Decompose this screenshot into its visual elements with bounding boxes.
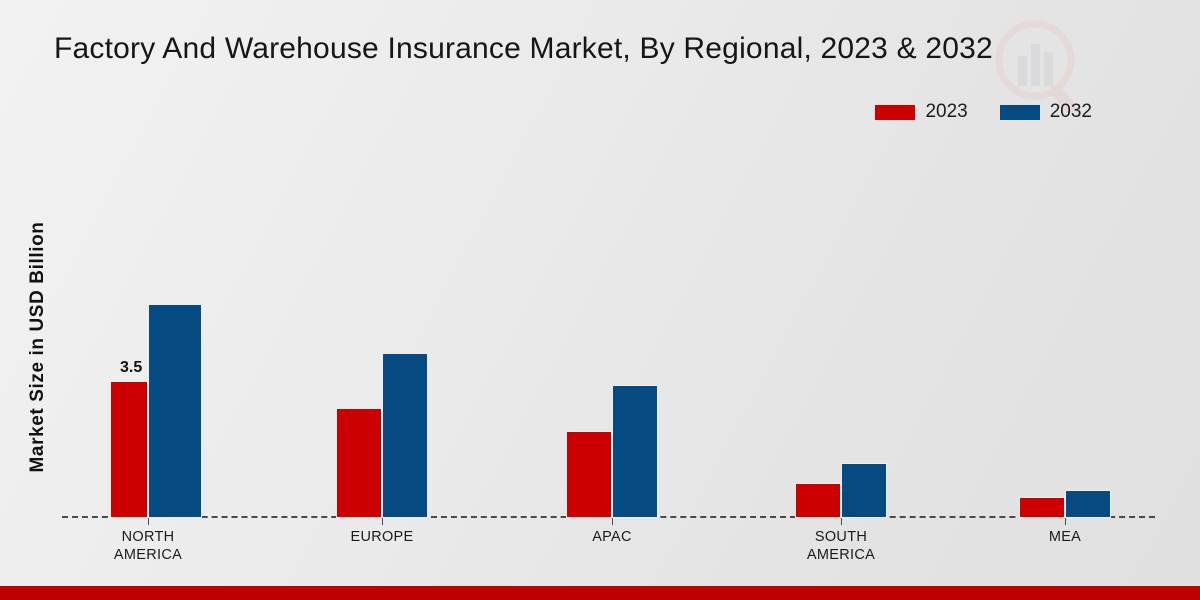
- legend-label-2032: 2032: [1050, 101, 1092, 123]
- x-axis-label-apac: APAC: [512, 528, 712, 546]
- legend-label-2023: 2023: [925, 101, 967, 123]
- bar-group-north-america: 3.5 NORTH AMERICA: [110, 150, 250, 518]
- x-axis-label-south-america-line1: SOUTH: [741, 528, 941, 546]
- x-axis-label-apac-line1: APAC: [512, 528, 712, 546]
- x-axis-tick-south-america: [841, 518, 842, 525]
- bar-europe-2032[interactable]: [382, 353, 428, 518]
- bar-north-america-2032[interactable]: [148, 304, 202, 518]
- bar-north-america-2023[interactable]: [110, 381, 148, 518]
- x-axis-label-south-america-line2: AMERICA: [741, 546, 941, 564]
- x-axis-label-europe: EUROPE: [282, 528, 482, 546]
- x-axis-tick-europe: [382, 518, 383, 525]
- chart-title: Factory And Warehouse Insurance Market, …: [54, 32, 993, 66]
- legend-swatch-2023: [875, 105, 915, 120]
- legend-item-2032[interactable]: 2032: [1000, 101, 1092, 123]
- bar-apac-2023[interactable]: [566, 431, 612, 518]
- chart-canvas: Factory And Warehouse Insurance Market, …: [0, 0, 1200, 600]
- bar-europe-2023[interactable]: [336, 408, 382, 518]
- bar-mea-2023[interactable]: [1019, 497, 1065, 518]
- x-axis-label-europe-line1: EUROPE: [282, 528, 482, 546]
- legend-swatch-2032: [1000, 105, 1040, 120]
- x-axis-tick-apac: [612, 518, 613, 525]
- x-axis-label-mea-line1: MEA: [965, 528, 1165, 546]
- bar-group-apac: APAC: [566, 150, 706, 518]
- x-axis-label-south-america: SOUTH AMERICA: [741, 528, 941, 564]
- value-label-north-america-2023: 3.5: [120, 359, 142, 377]
- chart-legend: 2023 2032: [875, 101, 1092, 123]
- x-axis-tick-mea: [1065, 518, 1066, 525]
- x-axis-label-north-america-line2: AMERICA: [48, 546, 248, 564]
- x-axis-label-mea: MEA: [965, 528, 1165, 546]
- footer-accent-bar: [0, 586, 1200, 600]
- bar-group-south-america: SOUTH AMERICA: [795, 150, 935, 518]
- x-axis-tick-north-america: [148, 518, 149, 525]
- plot-area: 3.5 NORTH AMERICA EUROPE APAC: [62, 150, 1155, 518]
- bar-south-america-2023[interactable]: [795, 483, 841, 518]
- bar-group-europe: EUROPE: [336, 150, 476, 518]
- bar-group-mea: MEA: [1019, 150, 1159, 518]
- bar-south-america-2032[interactable]: [841, 463, 887, 518]
- x-axis-label-north-america: NORTH AMERICA: [48, 528, 248, 564]
- bar-mea-2032[interactable]: [1065, 490, 1111, 518]
- y-axis-title: Market Size in USD Billion: [27, 157, 49, 537]
- legend-item-2023[interactable]: 2023: [875, 101, 967, 123]
- x-axis-label-north-america-line1: NORTH: [48, 528, 248, 546]
- bar-apac-2032[interactable]: [612, 385, 658, 518]
